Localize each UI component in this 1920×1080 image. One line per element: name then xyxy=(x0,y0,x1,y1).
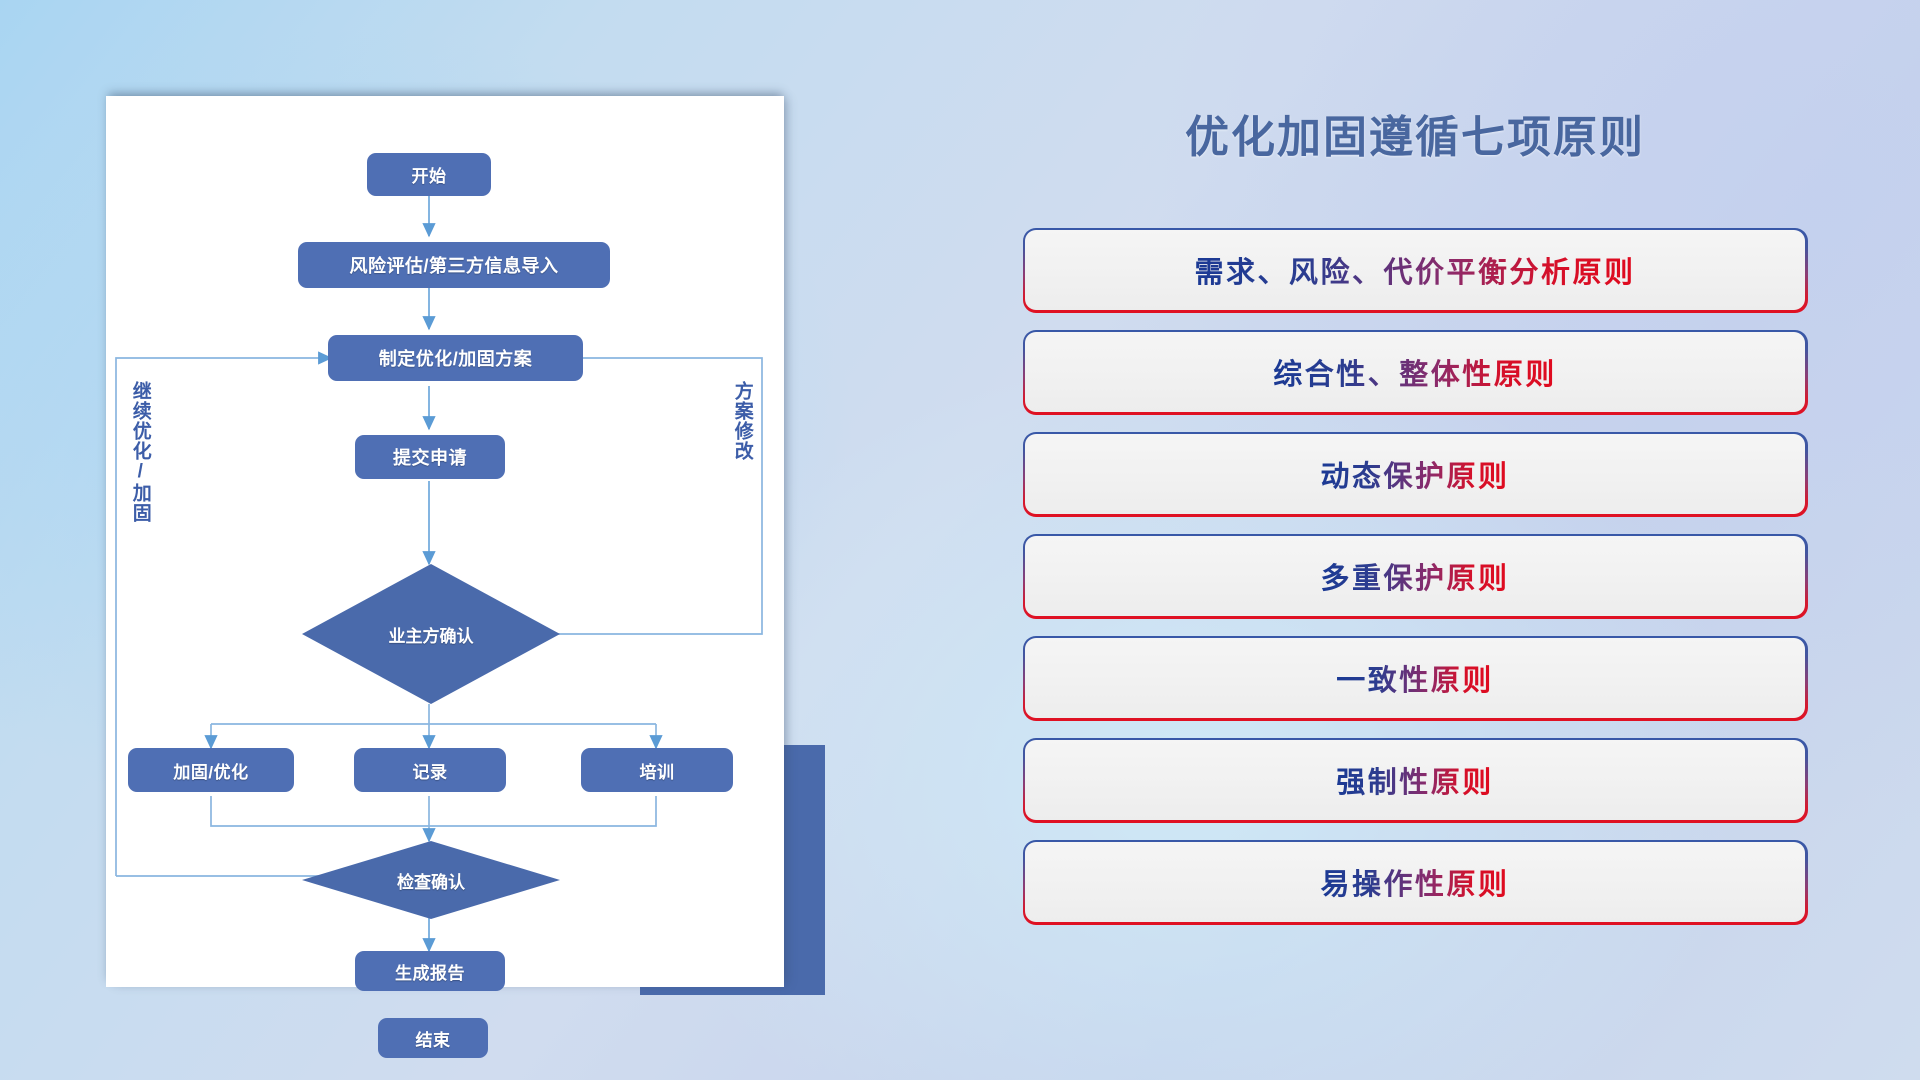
principle-card-1-label: 需求、风险、代价平衡分析原则 xyxy=(1194,249,1635,291)
flow-node-record[interactable]: 记录 xyxy=(354,748,506,792)
flow-node-report[interactable]: 生成报告 xyxy=(355,951,505,991)
principle-card-5-label: 一致性原则 xyxy=(1336,657,1494,699)
principles-panel-title: 优化加固遵循七项原则 xyxy=(1020,116,1810,160)
flow-edge-label-continue-optimize: 继续优化/加固 xyxy=(130,381,150,523)
principle-card-7[interactable]: 易操作性原则 xyxy=(1025,842,1805,922)
flow-node-end[interactable]: 结束 xyxy=(378,1018,488,1058)
flowchart-card: 开始 风险评估/第三方信息导入 制定优化/加固方案 提交申请 业主方确认 加固/… xyxy=(106,96,784,987)
principle-card-5[interactable]: 一致性原则 xyxy=(1025,638,1805,718)
flow-node-start-label: 开始 xyxy=(412,162,447,187)
flow-node-submit[interactable]: 提交申请 xyxy=(355,435,505,479)
flow-node-owner-confirm-label: 业主方确认 xyxy=(389,622,474,647)
flow-node-report-label: 生成报告 xyxy=(395,959,465,984)
flow-node-training-label: 培训 xyxy=(640,758,675,783)
flow-node-check-confirm-label: 检查确认 xyxy=(397,868,465,893)
principles-card-list: 需求、风险、代价平衡分析原则 综合性、整体性原则 动态保护原则 多重保护原则 一… xyxy=(1025,230,1805,944)
flow-node-risk-assessment[interactable]: 风险评估/第三方信息导入 xyxy=(298,242,610,288)
flow-node-end-label: 结束 xyxy=(416,1026,451,1051)
principle-card-6[interactable]: 强制性原则 xyxy=(1025,740,1805,820)
principle-card-4[interactable]: 多重保护原则 xyxy=(1025,536,1805,616)
principle-card-4-label: 多重保护原则 xyxy=(1320,555,1509,597)
flow-node-reinforce-label: 加固/优化 xyxy=(173,758,248,783)
principle-card-1[interactable]: 需求、风险、代价平衡分析原则 xyxy=(1025,230,1805,310)
principle-card-7-label: 易操作性原则 xyxy=(1320,861,1509,903)
flow-node-risk-assessment-label: 风险评估/第三方信息导入 xyxy=(350,252,559,278)
principles-panel: 优化加固遵循七项原则 需求、风险、代价平衡分析原则 综合性、整体性原则 动态保护… xyxy=(1020,96,1810,1006)
flow-node-check-confirm[interactable]: 检查确认 xyxy=(302,841,560,919)
flow-node-record-label: 记录 xyxy=(413,758,448,783)
flow-node-reinforce[interactable]: 加固/优化 xyxy=(128,748,294,792)
flow-node-start[interactable]: 开始 xyxy=(367,153,491,196)
principle-card-3[interactable]: 动态保护原则 xyxy=(1025,434,1805,514)
flow-node-training[interactable]: 培训 xyxy=(581,748,733,792)
principle-card-2[interactable]: 综合性、整体性原则 xyxy=(1025,332,1805,412)
flow-node-owner-confirm[interactable]: 业主方确认 xyxy=(302,564,560,704)
principle-card-3-label: 动态保护原则 xyxy=(1320,453,1509,495)
flow-node-submit-label: 提交申请 xyxy=(393,444,467,470)
principle-card-6-label: 强制性原则 xyxy=(1336,759,1494,801)
flow-node-plan[interactable]: 制定优化/加固方案 xyxy=(328,335,583,381)
flow-edge-label-plan-revision: 方案修改 xyxy=(732,381,752,461)
flow-node-plan-label: 制定优化/加固方案 xyxy=(379,345,533,371)
principle-card-2-label: 综合性、整体性原则 xyxy=(1273,351,1557,393)
